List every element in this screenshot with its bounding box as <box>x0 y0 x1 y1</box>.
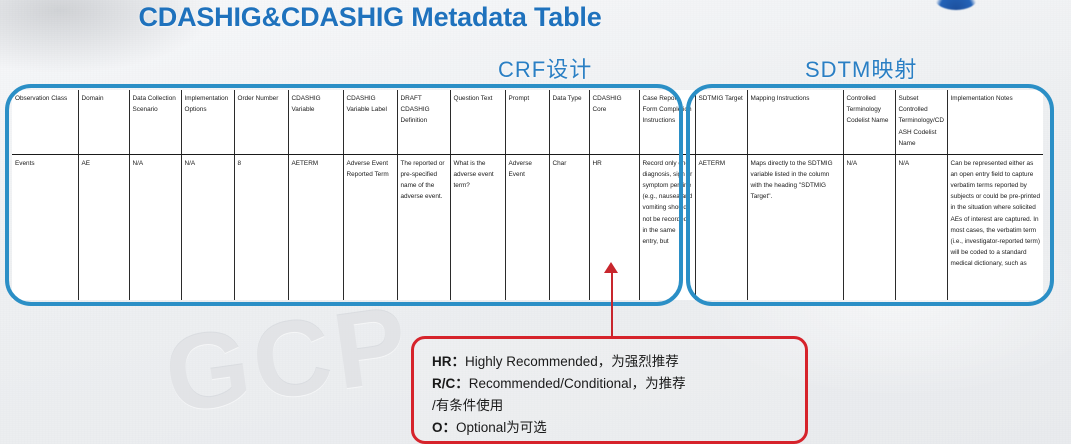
page-title: CDASHIG&CDASHIG Metadata Table <box>0 2 740 33</box>
table-header-cell: Case Report Form Completion Instructions <box>639 90 695 154</box>
table-header-cell: SDTMIG Target <box>695 90 747 154</box>
callout-line-hr: HR：Highly Recommended，为强烈推荐 <box>432 351 805 373</box>
table-cell: The reported or pre-specified name of th… <box>397 154 450 300</box>
table-cell: N/A <box>843 154 895 300</box>
callout-line-rc: R/C：Recommended/Conditional，为推荐 <box>432 373 805 395</box>
table-header-row: Observation ClassDomainData Collection S… <box>12 90 1043 154</box>
table-header-cell: CDASHIG Variable <box>288 90 343 154</box>
table-header-cell: Observation Class <box>12 90 78 154</box>
table-cell: Record only one diagnosis, sign or sympt… <box>639 154 695 300</box>
table-cell: N/A <box>129 154 181 300</box>
table-header-cell: Implementation Options <box>181 90 234 154</box>
callout-arrow-shaft <box>611 268 613 338</box>
table-header-cell: Order Number <box>234 90 288 154</box>
table-cell: 8 <box>234 154 288 300</box>
table-cell: Can be represented either as an open ent… <box>947 154 1043 300</box>
table-header-cell: CDASHIG Core <box>589 90 639 154</box>
callout-key-rc: R/C： <box>432 376 469 391</box>
table-cell: Adverse Event <box>505 154 549 300</box>
table-cell: Events <box>12 154 78 300</box>
table-header-cell: Prompt <box>505 90 549 154</box>
table-header-cell: CDASHIG Variable Label <box>343 90 397 154</box>
table-cell: HR <box>589 154 639 300</box>
section-label-crf: CRF设计 <box>498 52 592 84</box>
callout-key-o: O： <box>432 420 456 435</box>
callout-line-rc-cont: /有条件使用 <box>432 395 805 417</box>
table-cell: Char <box>549 154 589 300</box>
legend-callout-box: HR：Highly Recommended，为强烈推荐 R/C：Recommen… <box>411 336 808 444</box>
table-cell: Adverse Event Reported Term <box>343 154 397 300</box>
table-cell: AE <box>78 154 129 300</box>
table-cell: What is the adverse event term? <box>450 154 505 300</box>
table-header-cell: Domain <box>78 90 129 154</box>
callout-text-hr: Highly Recommended，为强烈推荐 <box>465 354 679 369</box>
table-header-cell: Subset Controlled Terminology/CDASH Code… <box>895 90 947 154</box>
metadata-table-container: Observation ClassDomainData Collection S… <box>12 90 1043 302</box>
section-label-sdtm: SDTM映射 <box>805 52 917 84</box>
callout-text-rc: Recommended/Conditional，为推荐 <box>469 376 686 391</box>
table-cell: Maps directly to the SDTMIG variable lis… <box>747 154 843 300</box>
table-header-cell: DRAFT CDASHIG Definition <box>397 90 450 154</box>
table-header-cell: Implementation Notes <box>947 90 1043 154</box>
table-header-cell: Data Collection Scenario <box>129 90 181 154</box>
table-header-cell: Data Type <box>549 90 589 154</box>
table-row: EventsAEN/AN/A8AETERMAdverse Event Repor… <box>12 154 1043 300</box>
table-cell: N/A <box>181 154 234 300</box>
table-header-cell: Controlled Terminology Codelist Name <box>843 90 895 154</box>
table-header-cell: Question Text <box>450 90 505 154</box>
table-cell: AETERM <box>695 154 747 300</box>
callout-line-o: O：Optional为可选 <box>432 417 805 439</box>
table-header-cell: Mapping Instructions <box>747 90 843 154</box>
callout-text-o: Optional为可选 <box>456 420 547 435</box>
metadata-table: Observation ClassDomainData Collection S… <box>12 90 1043 300</box>
callout-key-hr: HR： <box>432 354 465 369</box>
table-cell: AETERM <box>288 154 343 300</box>
table-cell: N/A <box>895 154 947 300</box>
callout-arrow-head-icon <box>604 262 618 273</box>
